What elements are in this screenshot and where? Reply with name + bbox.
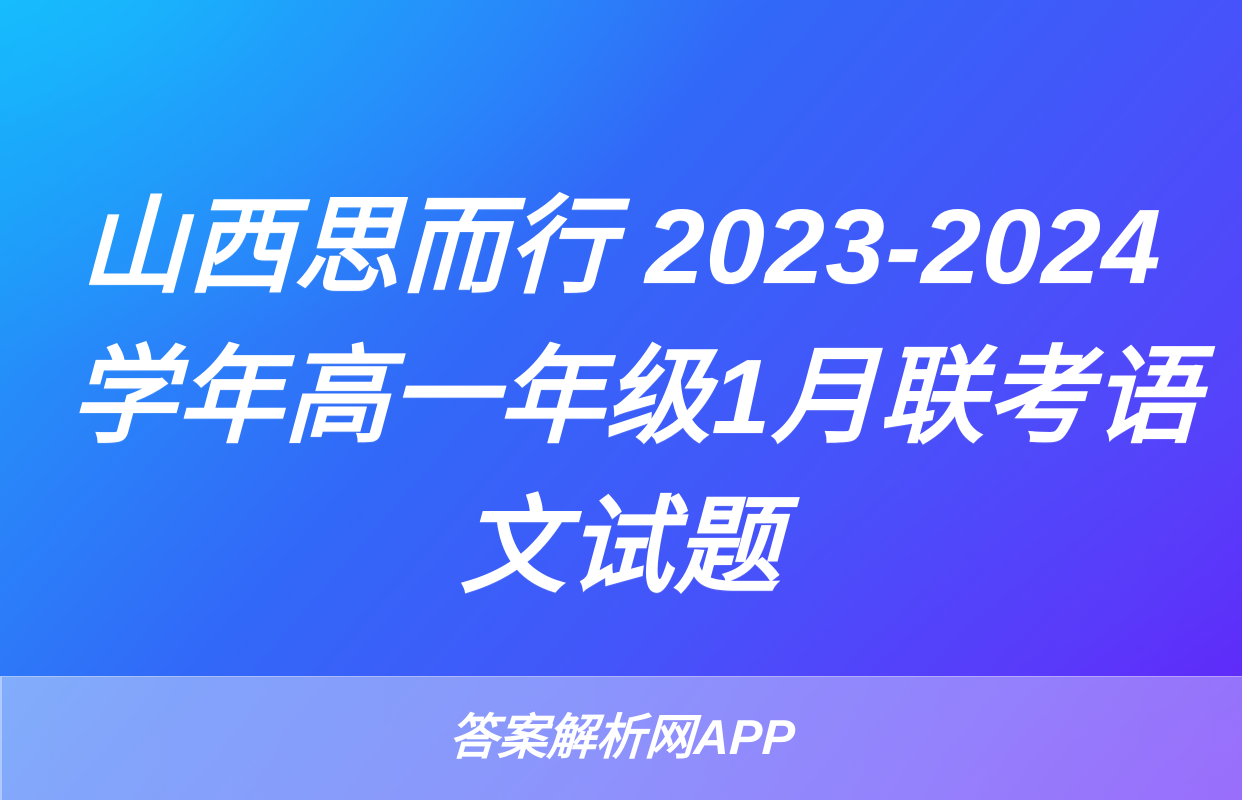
watermark-label: 答案解析网APP (448, 714, 796, 763)
page-title: 山西思而行 2023-2024 学年高一年级1月联考语 文试题 (0, 172, 1242, 622)
watermark-bar: 答案解析网APP (0, 676, 1242, 800)
title-line-2: 学年高一年级1月联考语 (69, 322, 1174, 472)
poster-canvas: 山西思而行 2023-2024 学年高一年级1月联考语 文试题 答案解析网APP (0, 0, 1242, 800)
title-line-1: 山西思而行 2023-2024 (69, 172, 1174, 322)
title-line-3: 文试题 (69, 472, 1174, 622)
